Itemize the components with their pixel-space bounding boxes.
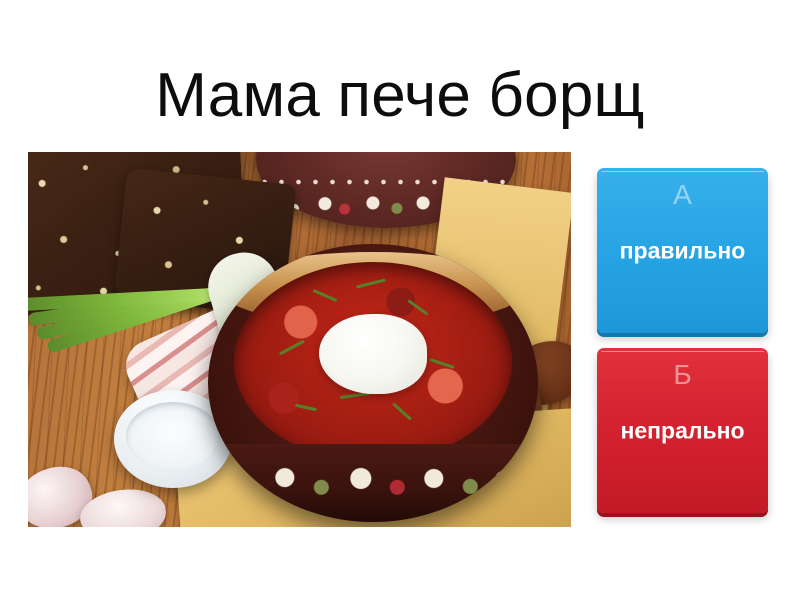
answer-label-b: непрально — [597, 417, 768, 444]
answer-options: А правильно Б непрально — [597, 168, 768, 513]
page-title: Мама пече борщ — [0, 56, 800, 136]
sour-cream-dollop-icon — [319, 314, 427, 394]
answer-option-a[interactable]: А правильно — [597, 168, 768, 333]
answer-letter-a: А — [673, 181, 692, 209]
bowl-folk-pattern — [208, 444, 538, 522]
answer-label-a: правильно — [597, 237, 768, 264]
borscht-photo — [28, 152, 571, 527]
answer-option-b[interactable]: Б непрально — [597, 348, 768, 513]
borscht-soup — [234, 262, 512, 462]
answer-letter-b: Б — [673, 361, 691, 389]
borscht-bowl-icon — [208, 244, 538, 522]
photo-scene — [28, 152, 571, 527]
